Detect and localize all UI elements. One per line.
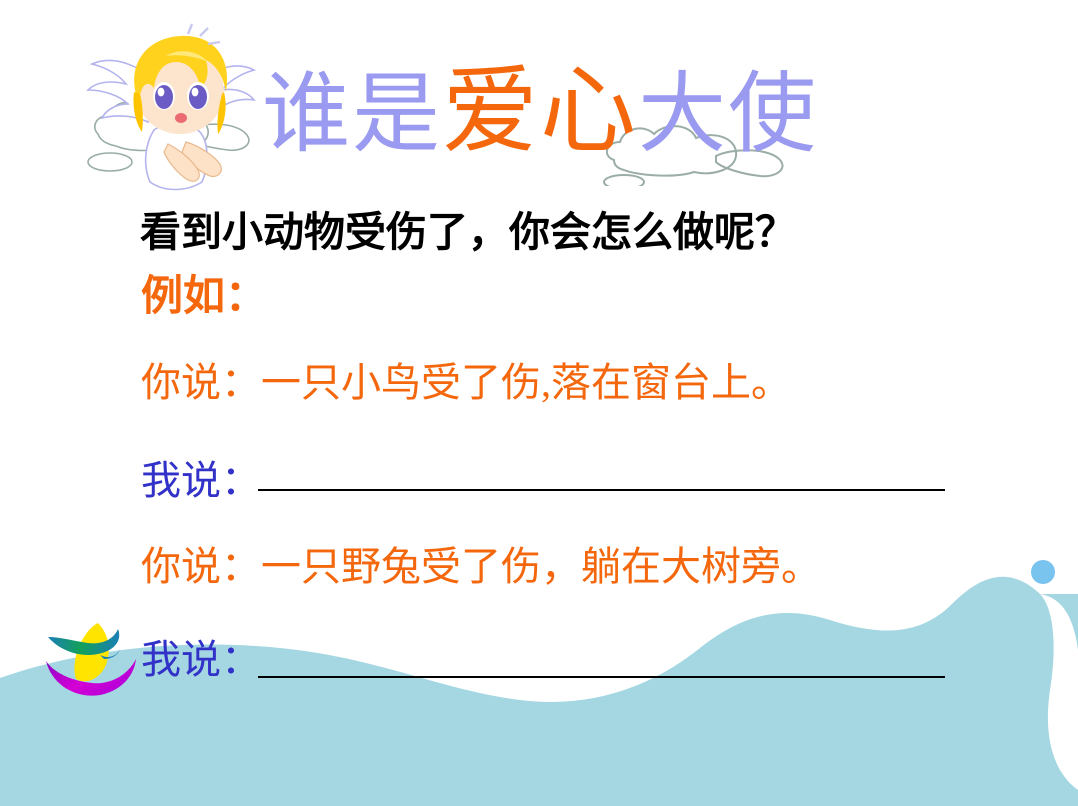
angel-clipart-icon: [68, 22, 283, 202]
slide-canvas: 谁是爱心大使 看到小动物受伤了，你会怎么做呢？ 例如： 你说：一只小鸟受了伤,落…: [0, 0, 1078, 806]
wave-shape: [0, 577, 1078, 806]
dialogue-content: 一只小鸟受了伤,落在窗台上。: [261, 350, 791, 408]
answer-blank-line[interactable]: [258, 676, 945, 678]
dialogue-row: 我说：: [141, 627, 261, 685]
bubble-dot: [1031, 560, 1055, 584]
title-part-1: 谁是: [262, 67, 442, 164]
dialogue-row: 我说：: [141, 448, 261, 506]
dialogue-speaker: 你说：: [141, 534, 261, 592]
dialogue-row: 你说：一只小鸟受了伤,落在窗台上。: [141, 350, 791, 408]
question-text: 看到小动物受伤了，你会怎么做呢？: [140, 198, 796, 258]
dialogue-speaker: 我说：: [141, 627, 261, 685]
dialogue-content: 一只野兔受了伤，躺在大树旁。: [261, 534, 821, 592]
wave-corner: [1040, 594, 1078, 650]
slide-title: 谁是爱心大使: [262, 62, 818, 163]
title-part-3: 大使: [638, 67, 818, 164]
dialogue-row: 你说：一只野兔受了伤，躺在大树旁。: [141, 534, 821, 592]
answer-blank-line[interactable]: [258, 489, 945, 491]
title-part-2: 爱心: [442, 58, 638, 165]
school-logo-icon: [42, 615, 152, 701]
example-label: 例如：: [141, 262, 267, 323]
dialogue-speaker: 你说：: [141, 350, 261, 408]
dialogue-speaker: 我说：: [141, 448, 261, 506]
